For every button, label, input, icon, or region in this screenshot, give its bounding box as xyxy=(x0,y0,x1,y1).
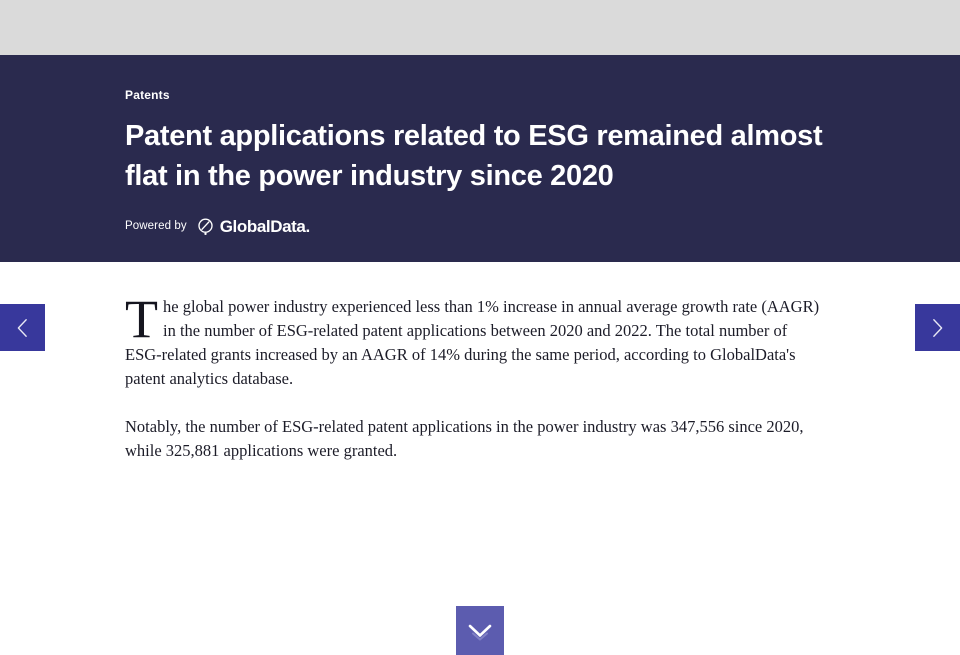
article-body: The global power industry experienced le… xyxy=(125,295,825,463)
hero-content: Patents Patent applications related to E… xyxy=(125,55,905,236)
globaldata-circle-mark-icon xyxy=(196,217,215,236)
chevron-down-icon xyxy=(466,621,494,641)
top-bar xyxy=(0,0,960,55)
article-hero-header: Patents Patent applications related to E… xyxy=(0,55,960,262)
category-kicker: Patents xyxy=(125,88,905,102)
scroll-down-button[interactable] xyxy=(456,606,504,655)
powered-by-label: Powered by xyxy=(125,220,187,232)
previous-article-button[interactable] xyxy=(0,304,45,351)
page-title: Patent applications related to ESG remai… xyxy=(125,116,845,196)
powered-by-block: Powered by GlobalData. xyxy=(125,216,905,236)
article-paragraph-2: Notably, the number of ESG-related paten… xyxy=(125,415,825,463)
globaldata-logo: GlobalData. xyxy=(196,217,310,236)
chevron-right-icon xyxy=(930,317,945,339)
next-article-button[interactable] xyxy=(915,304,960,351)
globaldata-wordmark: GlobalData. xyxy=(220,217,310,236)
chevron-left-icon xyxy=(15,317,30,339)
article-paragraph-1: The global power industry experienced le… xyxy=(125,295,825,391)
